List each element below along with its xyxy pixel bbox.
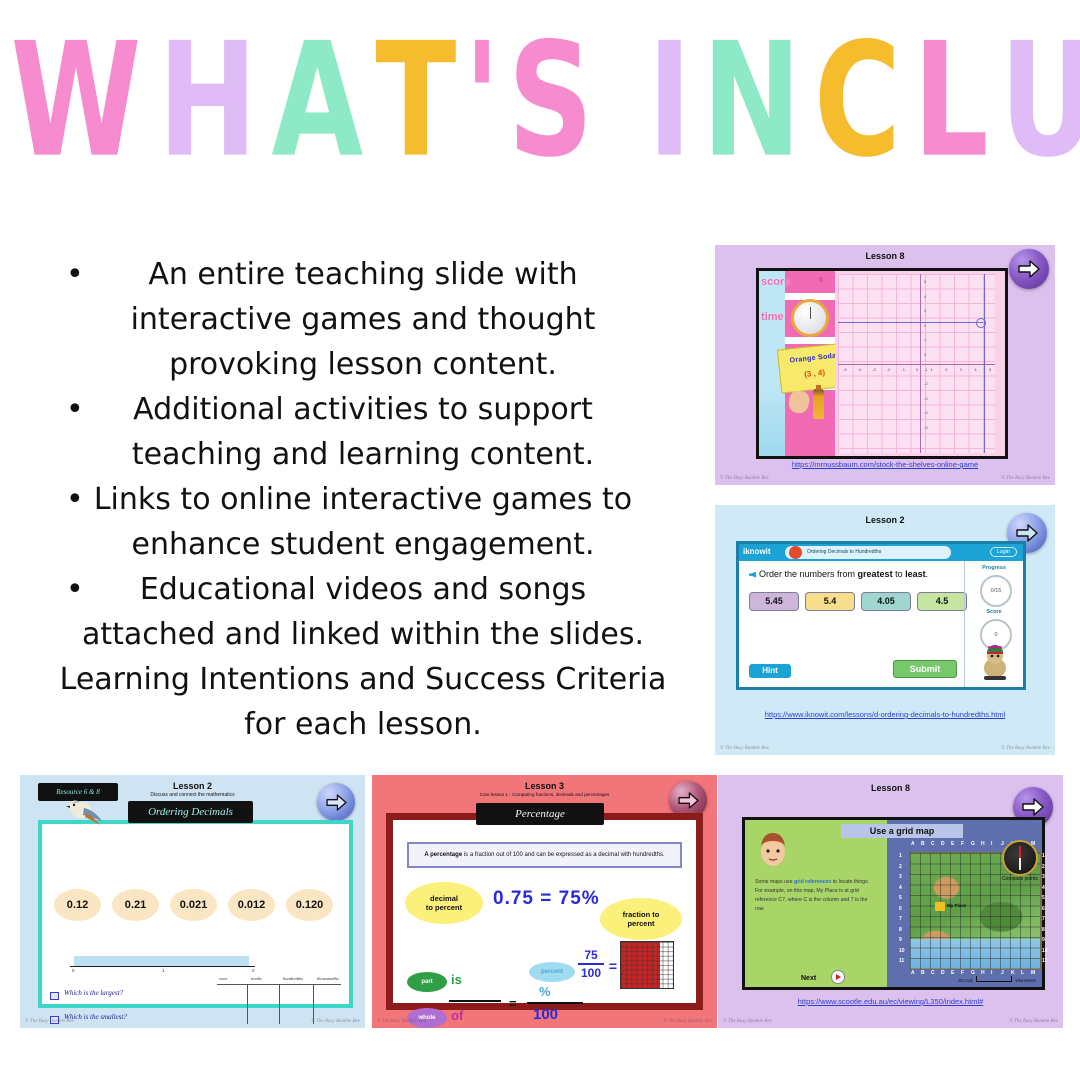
answer-chip[interactable]: 4.05 [861, 592, 911, 611]
slide-heading: Ordering Decimals [148, 806, 233, 818]
decimal-oval: 0.21 [112, 889, 159, 921]
map-row-label: 1 [1042, 853, 1045, 859]
slide-heading: Percentage [515, 808, 565, 820]
map-scale: SCALE kilometres [958, 976, 1036, 983]
map-column-label: E [951, 970, 954, 976]
watermark-right: © The Busy Bumble Bee [1009, 1019, 1058, 1024]
mascot-icon [975, 642, 1015, 682]
word-is: is [451, 972, 462, 987]
feature-bullet-line: enhance student engagement. [18, 522, 708, 567]
watermark-right: © The Busy Bumble Bee [663, 1019, 712, 1024]
slide-content-frame: Use a grid map Some maps use grid refere… [742, 817, 1045, 990]
definition-box: A percentage is a fraction out of 100 an… [407, 842, 682, 868]
fraction-to-percent-text: fraction topercent [623, 910, 660, 929]
place-value-table: onestenthshundredthsthousandths [217, 976, 341, 1024]
compass-icon [1002, 840, 1038, 876]
title-letter-2: A [271, 16, 361, 187]
map-column-label: F [961, 841, 964, 847]
word-of: of [451, 1008, 463, 1023]
number-line-tick-label: 0 [72, 968, 75, 973]
decimal-oval: 0.120 [286, 889, 333, 921]
map-row-label: 9 [899, 937, 902, 943]
guide-line [838, 322, 983, 323]
hundred-grid-icon [620, 941, 674, 989]
fraction-75-100: 75 100 [578, 948, 604, 980]
decimal-to-percent-text: decimalto percent [426, 894, 462, 913]
place-value-header: tenths [251, 976, 262, 981]
scale-unit: kilometres [1015, 978, 1036, 983]
game-screen: 0 score time Orange Soda (3 , 4) 543210-… [756, 268, 1008, 459]
resource-tag-label: Resource 6 & 8 [56, 788, 99, 796]
map-column-label: C [931, 970, 935, 976]
score-label: score [761, 276, 790, 288]
title-letter-7: I [648, 16, 690, 187]
fraction-to-percent-label: fraction topercent [600, 898, 682, 940]
definition-rest: is a fraction out of 100 and can be expr… [462, 852, 664, 858]
title-letter-3: T [375, 16, 454, 187]
y-tick: -5 [924, 425, 928, 430]
decimal-oval: 0.012 [228, 889, 275, 921]
y-tick: -2 [924, 381, 928, 386]
fraction-denominator: 100 [578, 966, 604, 980]
time-label: time [761, 311, 784, 323]
map-row-label: 7 [899, 916, 902, 922]
soda-bottle-icon [813, 389, 824, 419]
lesson-url-link[interactable]: https://www.iknowit.com/lessons/d-orderi… [715, 710, 1055, 719]
number-line-bar [74, 956, 249, 966]
slide-heading-banner: Ordering Decimals [128, 801, 253, 823]
feature-bullet: •Educational videos and songsattached an… [18, 567, 708, 657]
question-text-mid: to [893, 569, 906, 579]
slide-lesson-label: Lesson 2 [715, 515, 1055, 525]
title-letter-4: ' [463, 16, 498, 187]
x-tick: -5 [843, 367, 847, 372]
kookaburra-icon [64, 797, 106, 829]
info-panel-text: Some maps use grid references to locate … [755, 878, 873, 914]
feature-bullet-line: An entire teaching slide with [18, 252, 708, 297]
map-column-label: D [941, 841, 945, 847]
decimal-to-percent-label: decimalto percent [405, 882, 483, 924]
map-row-label: 2 [1042, 864, 1045, 870]
question-text-suffix: . [926, 569, 929, 579]
bullet-marker: • [66, 387, 84, 432]
watermark-left: © The Busy Bumble Bee [723, 1019, 772, 1024]
decimal-oval: 0.12 [54, 889, 101, 921]
feature-bullet: •Additional activities to supportteachin… [18, 387, 708, 477]
number-line-tick-label: 2 [252, 968, 255, 973]
watermark-left: © The Busy Bumble Bee [377, 1019, 426, 1024]
title-letter-9: C [814, 16, 899, 187]
map-row-label: 10 [899, 948, 905, 954]
title-letter-11: U [1000, 16, 1080, 187]
decimal-oval: 0.021 [170, 889, 217, 921]
x-tick: 3 [960, 367, 962, 372]
shelf-divider [785, 337, 835, 344]
map-column-label: C [931, 841, 935, 847]
map-row-label: 8 [1042, 927, 1045, 933]
feature-line: Learning Intentions and Success Criteria [18, 657, 708, 702]
map-row-label: 4 [1042, 885, 1045, 891]
watermark-right: © The Busy Bumble Bee [311, 1019, 360, 1024]
slide-thumbnail-ordering-decimals[interactable]: Lesson 2 Discuss and connect the mathema… [20, 775, 365, 1028]
watermark-right: © The Busy Bumble Bee [1001, 746, 1050, 751]
watermark-left: © The Busy Bumble Bee [720, 476, 769, 481]
map-row-label: 8 [899, 927, 902, 933]
bullet-marker: • [66, 567, 84, 612]
map-row-label: 6 [899, 906, 902, 912]
y-tick: -3 [924, 396, 928, 401]
map-row-label: 2 [899, 864, 902, 870]
place-value-header: thousandths [317, 976, 339, 981]
slide-thumbnail-stock-shelves[interactable]: Lesson 8 0 score time Orange Soda (3 , 4… [715, 245, 1055, 485]
map-column-label: J [1001, 841, 1004, 847]
slide-heading-banner: Percentage [476, 803, 604, 825]
slide-subtitle: Core lesson 1 - Comparing fractions, dec… [372, 792, 717, 797]
map-row-label: 6 [1042, 906, 1045, 912]
y-tick: -1 [924, 367, 928, 372]
map-row-label: 3 [899, 874, 902, 880]
formula-denominator-100: 100 [533, 1006, 558, 1023]
answer-chip[interactable]: 5.4 [805, 592, 855, 611]
submit-button[interactable]: Submit [893, 660, 957, 678]
title-letter-1: H [158, 16, 256, 187]
y-tick: 2 [924, 323, 926, 328]
title-letter-8: N [702, 16, 800, 187]
number-line-axis [70, 966, 255, 967]
map-column-label: B [921, 841, 925, 847]
map-column-label: A [911, 970, 915, 976]
slide-content-frame: 0.120.210.0210.0120.120 012 Which is the… [38, 820, 353, 1008]
map-column-label: A [911, 841, 915, 847]
feature-bullet-line: provoking lesson content. [18, 342, 708, 387]
percent-blob: percent [529, 962, 575, 982]
decimal-equation: 0.75 = 75% [493, 888, 600, 910]
x-tick: -1 [901, 367, 905, 372]
map-row-label: 4 [899, 885, 902, 891]
guide-line-vertical [984, 274, 985, 453]
map-url-link[interactable]: https://www.scootle.edu.au/ec/viewing/L3… [718, 997, 1063, 1006]
watermark-left: © The Busy Bumble Bee [720, 746, 769, 751]
map-row-label: 5 [1042, 895, 1045, 901]
bullet-marker: • [66, 477, 84, 522]
watermark-right: © The Busy Bumble Bee [1001, 476, 1050, 481]
x-tick: 0 [916, 367, 918, 372]
dice-icon [789, 546, 802, 559]
title-letter-0: W [11, 16, 140, 187]
question-prompt: Order the numbers from greatest to least… [749, 569, 928, 579]
x-tick: 4 [974, 367, 976, 372]
y-tick: 3 [924, 308, 926, 313]
x-tick: 5 [989, 367, 991, 372]
x-axis [838, 364, 995, 365]
feature-bullet-line: interactive games and thought [18, 297, 708, 342]
map-row-label: 7 [1042, 916, 1045, 922]
slide-lesson-label: Lesson 8 [715, 251, 1055, 261]
map-row-label: 5 [899, 895, 902, 901]
feature-line: for each lesson. [18, 702, 708, 747]
title-letter-5: S [508, 16, 592, 187]
info-text-part1: Some maps use [755, 879, 794, 885]
iknowit-app-window: iknowit Ordering Decimals to Hundredths … [736, 541, 1026, 690]
game-score-value: 0 [819, 277, 823, 284]
y-tick: 1 [924, 337, 926, 342]
bullet-marker: • [66, 252, 84, 297]
next-arrow-icon[interactable] [1009, 249, 1049, 289]
map-row-label: 3 [1042, 874, 1045, 880]
feature-bullet-line: teaching and learning content. [18, 432, 708, 477]
fraction-numerator: 75 [578, 948, 604, 962]
page-title: WHAT'S INCLUDED [0, 26, 1080, 176]
map-column-label: B [921, 970, 925, 976]
part-blob: part [407, 972, 447, 992]
answer-chip[interactable]: 5.45 [749, 592, 799, 611]
y-tick: 5 [924, 279, 926, 284]
scale-label: SCALE [958, 978, 973, 983]
next-arrow-icon[interactable] [317, 783, 355, 821]
progress-sidebar: Progress 0/15 Score 0 [964, 561, 1023, 687]
slide-thumbnail-iknowit[interactable]: Lesson 2 iknowit Ordering Decimals to Hu… [715, 505, 1055, 755]
clock-icon [791, 299, 829, 337]
progress-label: Progress [965, 565, 1023, 571]
next-label[interactable]: Next [801, 975, 816, 982]
game-url-link[interactable]: https://mrnussbaum.com/stock-the-shelves… [715, 460, 1055, 469]
feature-bullet-line: attached and linked within the slides. [18, 612, 708, 657]
feature-bullet-line: Links to online interactive games to [18, 477, 708, 522]
x-tick: 2 [945, 367, 947, 372]
question-text-part1: Order the numbers from [759, 569, 858, 579]
iknowit-logo: iknowit [743, 547, 771, 556]
number-line-tick-label: 1 [162, 968, 165, 973]
answer-chip[interactable]: 4.5 [917, 592, 967, 611]
x-tick: -3 [872, 367, 876, 372]
lesson-tab-title: Ordering Decimals to Hundredths [807, 549, 881, 555]
definition-bold: A percentage [424, 852, 462, 858]
hint-button[interactable]: Hint [749, 664, 791, 678]
y-tick: 0 [924, 352, 926, 357]
slide-content-frame: A percentage is a fraction out of 100 an… [386, 813, 703, 1010]
next-play-icon[interactable] [831, 970, 845, 984]
map-row-label: 11 [899, 958, 904, 964]
map-row-label: 10 [1042, 948, 1048, 954]
score-label: Score [965, 609, 1023, 615]
watermark-left: © The Busy Bumble Bee [25, 1019, 74, 1024]
map-column-label: G [971, 841, 975, 847]
map-column-label: E [951, 841, 954, 847]
slide-thumbnail-percentage[interactable]: Lesson 3 Core lesson 1 - Comparing fract… [372, 775, 717, 1028]
map-row-label: 9 [1042, 937, 1045, 943]
x-tick: -4 [858, 367, 862, 372]
map-column-label: I [991, 841, 992, 847]
y-tick: 4 [924, 294, 926, 299]
title-letter-6 [602, 16, 642, 187]
feature-bullet-line: Additional activities to support [18, 387, 708, 432]
map-row-label: 11 [1042, 958, 1047, 964]
whole-blob: whole [407, 1008, 447, 1028]
compass-label: Compass points [998, 876, 1042, 882]
progress-ring: 0/15 [980, 575, 1012, 607]
map-column-label: H [981, 841, 985, 847]
feature-bullet-line: Educational videos and songs [18, 567, 708, 612]
feature-bullet: •An entire teaching slide withinteractiv… [18, 252, 708, 387]
character-avatar [755, 830, 791, 870]
coordinate-grid: 543210-1-2-3-4-5 -5-4-3-2-1012345 [835, 271, 1005, 456]
info-text-link[interactable]: grid references [794, 879, 831, 885]
question-checkbox[interactable] [50, 992, 59, 1000]
login-button[interactable]: Login [990, 547, 1017, 557]
question-text: Which is the largest? [64, 989, 123, 997]
my-place-label: My Place [947, 903, 966, 908]
percent-symbol: % [539, 984, 551, 999]
features-list: •An entire teaching slide withinteractiv… [18, 252, 708, 747]
slide-thumbnail-grid-map[interactable]: Lesson 8 Use a grid map Some maps use gr… [718, 775, 1063, 1028]
place-value-header: ones [219, 976, 227, 981]
map-column-label: D [941, 970, 945, 976]
plot-point [976, 318, 986, 328]
x-tick: -2 [887, 367, 891, 372]
title-letter-10: L [913, 16, 987, 187]
my-place-pin-icon [935, 902, 945, 911]
map-row-label: 1 [899, 853, 902, 859]
speaker-icon[interactable] [749, 572, 756, 578]
y-axis [920, 274, 921, 453]
slide-lesson-label: Lesson 8 [718, 783, 1063, 793]
map-heading: Use a grid map [841, 824, 963, 838]
x-tick: 1 [931, 367, 933, 372]
y-tick: -4 [924, 410, 928, 415]
place-value-header: hundredths [283, 976, 303, 981]
feature-bullet: •Links to online interactive games toenh… [18, 477, 708, 567]
question-text-bold2: least [905, 569, 926, 579]
question-text-bold1: greatest [858, 569, 893, 579]
slide-lesson-label: Lesson 3 [372, 781, 717, 791]
